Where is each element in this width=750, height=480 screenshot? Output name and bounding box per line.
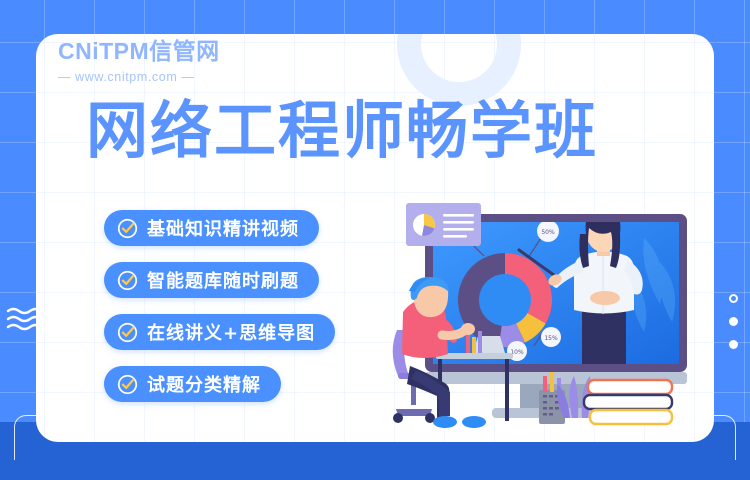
- online-class-illustration: 25% 50% 15% 10%: [392, 190, 712, 435]
- check-circle-icon: [117, 322, 138, 343]
- logo-website: — www.cnitpm.com —: [58, 70, 220, 84]
- svg-text:50%: 50%: [541, 229, 555, 236]
- carousel-dot-1[interactable]: [729, 294, 738, 303]
- feature-list: 基础知识精讲视频 智能题库随时刷题 在线讲义+思维导图: [104, 210, 335, 402]
- book-stack: [584, 380, 672, 424]
- check-circle-icon: [117, 270, 138, 291]
- page-title: 网络工程师畅学班: [86, 98, 598, 163]
- feature-label: 基础知识精讲视频: [147, 215, 299, 241]
- check-circle-icon: [117, 218, 138, 239]
- feature-pill-2[interactable]: 智能题库随时刷题: [104, 262, 319, 298]
- feature-pill-1[interactable]: 基础知识精讲视频: [104, 210, 319, 246]
- promo-banner: CNiTPM信管网 — www.cnitpm.com — 网络工程师畅学班 基础…: [0, 0, 750, 480]
- carousel-dot-2[interactable]: [729, 317, 738, 326]
- wave-decoration-icon: [6, 306, 50, 332]
- feature-pill-3[interactable]: 在线讲义+思维导图: [104, 314, 335, 350]
- brand-logo[interactable]: CNiTPM信管网 — www.cnitpm.com —: [58, 40, 220, 84]
- feature-pill-4[interactable]: 试题分类精解: [104, 366, 281, 402]
- svg-text:15%: 15%: [544, 335, 558, 342]
- carousel-dot-3[interactable]: [729, 340, 738, 349]
- pie-slide-card: [406, 203, 481, 246]
- feature-label: 试题分类精解: [147, 371, 261, 397]
- logo-text: CNiTPM信管网: [58, 40, 220, 63]
- check-circle-icon: [117, 374, 138, 395]
- feature-label: 在线讲义+思维导图: [147, 319, 315, 345]
- carousel-dots[interactable]: [729, 294, 738, 349]
- feature-label: 智能题库随时刷题: [147, 267, 299, 293]
